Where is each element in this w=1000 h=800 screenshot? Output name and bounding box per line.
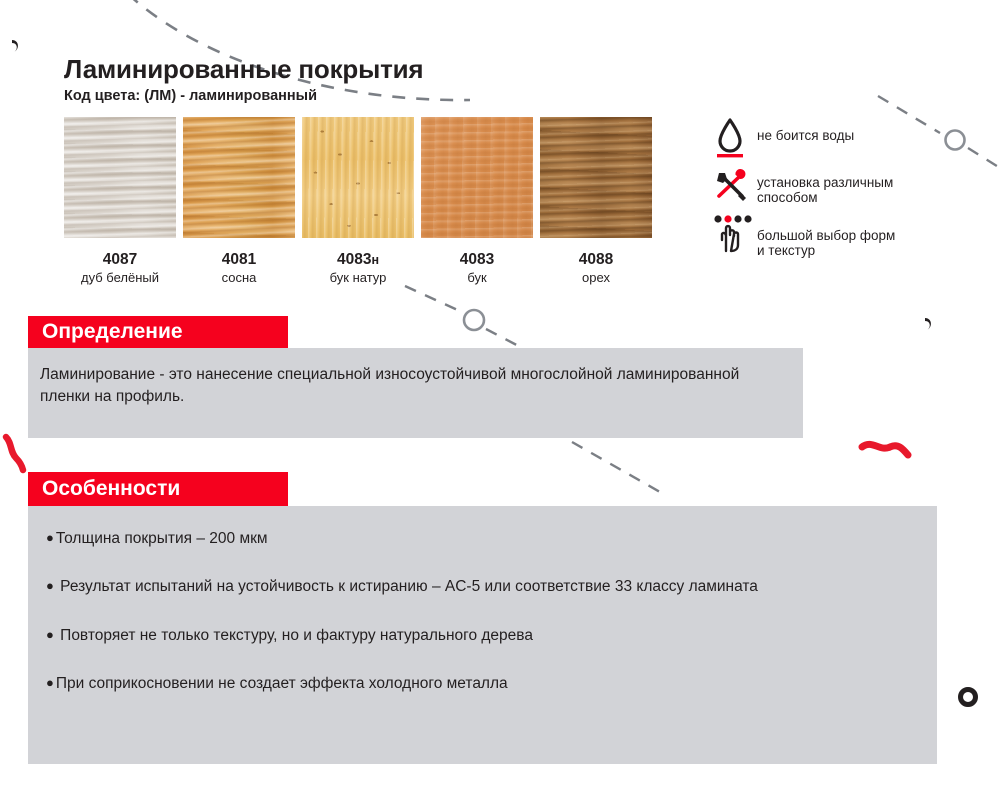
swatch-name: бук xyxy=(421,270,533,286)
wood-swatch-icon[interactable] xyxy=(64,117,176,238)
wood-swatch-icon[interactable] xyxy=(302,117,414,238)
features-panel: ●Толщина покрытия – 200 мкм ● Результат … xyxy=(28,506,937,764)
bullet-glyph: ● xyxy=(46,627,54,642)
bullet-glyph: ● xyxy=(46,675,54,690)
wood-texture xyxy=(421,117,533,238)
benefit-text: не боится воды xyxy=(757,116,854,143)
wood-texture xyxy=(302,117,414,238)
page-subtitle: Код цвета: (ЛМ) - ламинированный xyxy=(64,89,423,105)
list-item: ●При соприкосновении не создает эффекта … xyxy=(46,673,917,695)
benefit-line-1: установка различным xyxy=(757,175,893,190)
wood-swatch-icon[interactable] xyxy=(540,117,652,238)
benefit-line-2: и текстур xyxy=(757,243,895,258)
swatch-code: 4081 xyxy=(183,251,295,269)
swatch-item[interactable]: 4083 бук xyxy=(421,117,533,285)
circle-node-right xyxy=(946,131,965,150)
swatch-caption: 4083 бук xyxy=(421,251,533,285)
swatch-name: сосна xyxy=(183,270,295,286)
benefits-list: не боится воды xyxy=(713,116,895,267)
benefit-item: большой выбор форм и текстур xyxy=(713,214,895,258)
benefit-line-1: не боится воды xyxy=(757,128,854,143)
comma-mark-right xyxy=(925,318,931,330)
dashed-line-lower xyxy=(572,442,660,492)
swatch-item[interactable]: 4083н бук натур xyxy=(302,117,414,285)
list-item-text: При соприкосновении не создает эффекта х… xyxy=(56,675,508,692)
swatch-item[interactable]: 4081 сосна xyxy=(183,117,295,285)
swatch-code-number: 4083 xyxy=(337,251,371,268)
swatch-code: 4088 xyxy=(540,251,652,269)
benefit-item: установка различным способом xyxy=(713,169,895,205)
benefit-text: установка различным способом xyxy=(757,169,893,205)
swatch-item[interactable]: 4088 орех xyxy=(540,117,652,285)
dashed-line-node-right-tail xyxy=(968,148,1000,168)
ring-mark-bottom-right xyxy=(961,690,976,705)
benefit-item: не боится воды xyxy=(713,116,895,160)
swatch-caption: 4087 дуб белёный xyxy=(64,251,176,285)
circle-node-left xyxy=(464,310,484,330)
swatch-name: орех xyxy=(540,270,652,286)
page-header: Ламинированные покрытия Код цвета: (ЛМ) … xyxy=(64,55,423,105)
water-drop-icon xyxy=(713,116,757,160)
swatch-name: дуб белёный xyxy=(64,270,176,286)
swatch-caption: 4081 сосна xyxy=(183,251,295,285)
swatch-code-number: 4083 xyxy=(460,251,494,268)
bullet-glyph: ● xyxy=(46,530,54,545)
list-item-text: Результат испытаний на устойчивость к ис… xyxy=(60,578,758,595)
wood-texture xyxy=(64,117,176,238)
swatch-code: 4083н xyxy=(302,251,414,269)
swatch-code-number: 4087 xyxy=(103,251,137,268)
definition-text: Ламинирование - это нанесение специально… xyxy=(40,364,781,408)
benefit-text: большой выбор форм и текстур xyxy=(757,214,895,258)
list-item: ●Толщина покрытия – 200 мкм xyxy=(46,528,917,550)
pointing-hand-icon xyxy=(713,214,757,254)
benefit-line-1: большой выбор форм xyxy=(757,228,895,243)
swatch-name: бук натур xyxy=(302,270,414,286)
color-swatch-row: 4087 дуб белёный 4081 сосна 4083 xyxy=(64,117,652,285)
definition-tab: Определение xyxy=(28,316,288,348)
list-item-text: Толщина покрытия – 200 мкм xyxy=(56,530,268,547)
swatch-code-suffix: н xyxy=(371,253,379,267)
swatch-code: 4087 xyxy=(64,251,176,269)
red-squiggle-left xyxy=(6,437,23,470)
benefit-line-2: способом xyxy=(757,190,893,205)
definition-panel: Ламинирование - это нанесение специально… xyxy=(28,348,803,438)
tools-cross-icon xyxy=(713,169,757,203)
swatch-code: 4083 xyxy=(421,251,533,269)
comma-mark-top-left xyxy=(12,40,18,52)
list-item: ● Результат испытаний на устойчивость к … xyxy=(46,576,917,598)
swatch-code-number: 4081 xyxy=(222,251,256,268)
wood-texture xyxy=(183,117,295,238)
list-item-text: Повторяет не только текстуру, но и факту… xyxy=(60,627,533,644)
wood-swatch-icon[interactable] xyxy=(421,117,533,238)
dashed-line-node-left xyxy=(405,286,462,312)
bullet-glyph: ● xyxy=(46,578,54,593)
wood-texture xyxy=(540,117,652,238)
swatch-caption: 4088 орех xyxy=(540,251,652,285)
swatch-item[interactable]: 4087 дуб белёный xyxy=(64,117,176,285)
page-title: Ламинированные покрытия xyxy=(64,55,423,84)
swatch-code-number: 4088 xyxy=(579,251,613,268)
infographic-page: Ламинированные покрытия Код цвета: (ЛМ) … xyxy=(0,0,1000,800)
swatch-caption: 4083н бук натур xyxy=(302,251,414,285)
list-item: ● Повторяет не только текстуру, но и фак… xyxy=(46,625,917,647)
red-squiggle-right xyxy=(862,444,908,455)
wood-swatch-icon[interactable] xyxy=(183,117,295,238)
features-tab: Особенности xyxy=(28,472,288,506)
